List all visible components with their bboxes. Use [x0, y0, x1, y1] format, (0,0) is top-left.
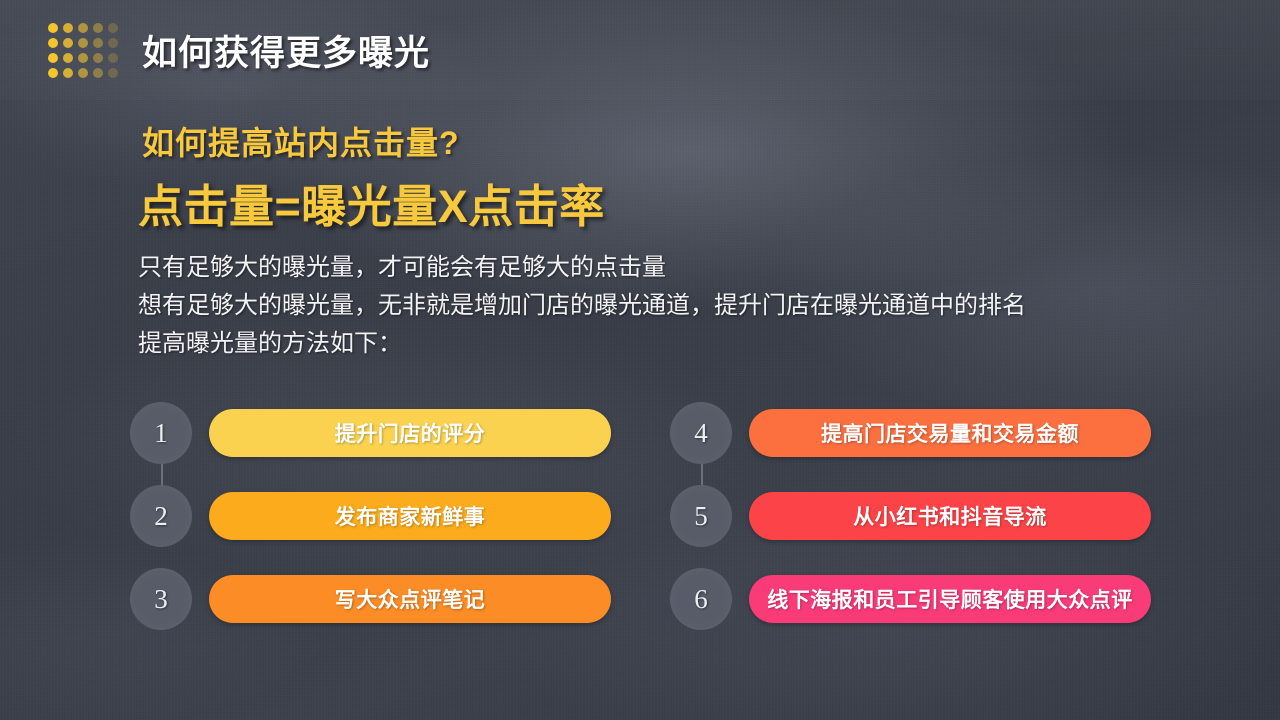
paragraph-line-1: 只有足够大的曝光量，才可能会有足够大的点击量 [138, 249, 1198, 287]
step-pill[interactable]: 发布商家新鲜事 [209, 492, 611, 540]
step-number-badge: 1 [130, 402, 192, 464]
step-item[interactable]: 1 提升门店的评分 [130, 392, 670, 474]
step-number-badge: 5 [670, 485, 732, 547]
steps-section: 1 提升门店的评分 2 发布商家新鲜事 3 写大众点评笔记 4 提高门店交易量和… [0, 392, 1280, 640]
slide-root: 如何获得更多曝光 如何提高站内点击量? 点击量=曝光量X点击率 只有足够大的曝光… [0, 0, 1280, 720]
step-item[interactable]: 3 写大众点评笔记 [130, 558, 670, 640]
step-pill[interactable]: 线下海报和员工引导顾客使用大众点评 [749, 575, 1151, 623]
dot-grid-icon [48, 23, 118, 78]
steps-column-right: 4 提高门店交易量和交易金额 5 从小红书和抖音导流 6 线下海报和员工引导顾客… [670, 392, 1210, 640]
step-number-badge: 2 [130, 485, 192, 547]
body-paragraph: 只有足够大的曝光量，才可能会有足够大的点击量 想有足够大的曝光量，无非就是增加门… [138, 249, 1198, 363]
step-pill[interactable]: 从小红书和抖音导流 [749, 492, 1151, 540]
step-number-badge: 3 [130, 568, 192, 630]
content-block: 如何提高站内点击量? 点击量=曝光量X点击率 只有足够大的曝光量，才可能会有足够… [138, 118, 1198, 363]
step-number-badge: 6 [670, 568, 732, 630]
section-subtitle: 如何提高站内点击量? [142, 118, 1198, 164]
step-pill[interactable]: 提升门店的评分 [209, 409, 611, 457]
step-item[interactable]: 6 线下海报和员工引导顾客使用大众点评 [670, 558, 1210, 640]
step-item[interactable]: 5 从小红书和抖音导流 [670, 475, 1210, 557]
step-pill[interactable]: 写大众点评笔记 [209, 575, 611, 623]
slide-header: 如何获得更多曝光 [0, 0, 1280, 100]
page-title: 如何获得更多曝光 [142, 25, 430, 76]
step-number-badge: 4 [670, 402, 732, 464]
paragraph-line-3: 提高曝光量的方法如下： [138, 325, 1198, 363]
step-pill[interactable]: 提高门店交易量和交易金额 [749, 409, 1151, 457]
steps-column-left: 1 提升门店的评分 2 发布商家新鲜事 3 写大众点评笔记 [130, 392, 670, 640]
formula-text: 点击量=曝光量X点击率 [138, 170, 1198, 235]
paragraph-line-2: 想有足够大的曝光量，无非就是增加门店的曝光通道，提升门店在曝光通道中的排名 [138, 287, 1198, 325]
step-item[interactable]: 4 提高门店交易量和交易金额 [670, 392, 1210, 474]
step-item[interactable]: 2 发布商家新鲜事 [130, 475, 670, 557]
